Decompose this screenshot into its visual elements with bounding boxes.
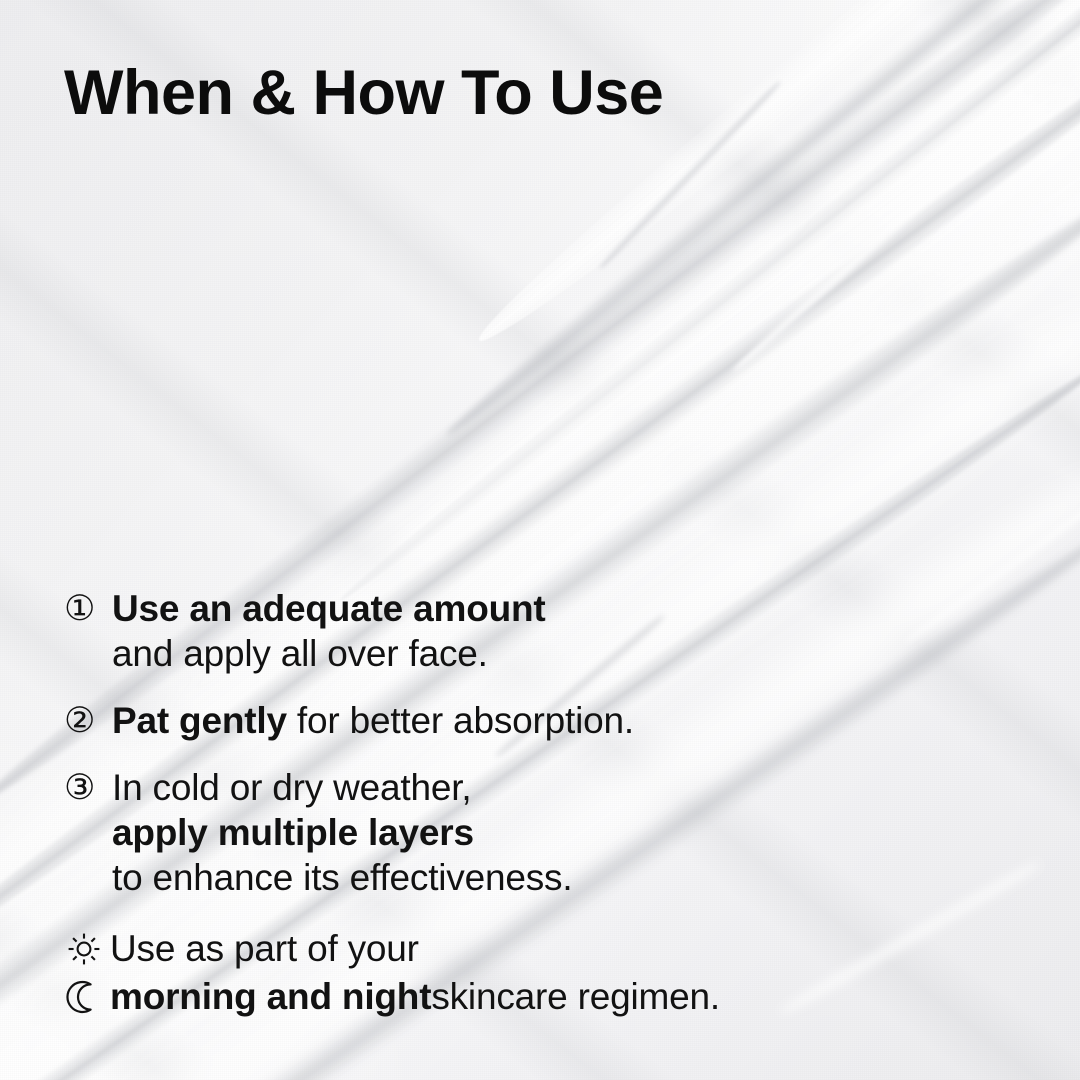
step-line: Pat gently for better absorption.	[112, 698, 1004, 743]
step-text-bold: Pat gently	[112, 700, 287, 741]
step-line: apply multiple layers	[112, 810, 1004, 855]
daynight-text-regular: skincare regimen.	[431, 973, 720, 1021]
step-line: Use an adequate amount	[112, 586, 1004, 631]
step-line: In cold or dry weather,	[112, 765, 1004, 810]
circled-two-icon: ②	[64, 698, 104, 743]
daynight-row-morning: Use as part of your	[64, 925, 1024, 973]
moon-icon	[64, 975, 108, 1019]
step-text-regular: to enhance its effectiveness.	[112, 857, 572, 898]
step-text-regular: In cold or dry weather,	[112, 767, 471, 808]
step-line: and apply all over face.	[112, 631, 1004, 676]
step-text-bold: Use an adequate amount	[112, 588, 546, 629]
daynight-note: Use as part of your morning and night sk…	[64, 925, 1024, 1021]
steps-list: ① Use an adequate amount and apply all o…	[64, 586, 1004, 900]
sun-icon	[64, 927, 108, 971]
step-text-bold: apply multiple layers	[112, 812, 474, 853]
step-text-regular: for better absorption.	[287, 700, 634, 741]
list-item: ③ In cold or dry weather, apply multiple…	[64, 765, 1004, 900]
daynight-text-bold: morning and night	[110, 973, 431, 1021]
daynight-row-night: morning and night skincare regimen.	[64, 973, 1024, 1021]
circled-three-icon: ③	[64, 765, 104, 810]
step-text-regular: and apply all over face.	[112, 633, 488, 674]
list-item: ② Pat gently for better absorption.	[64, 698, 1004, 743]
list-item: ① Use an adequate amount and apply all o…	[64, 586, 1004, 676]
step-line: to enhance its effectiveness.	[112, 855, 1004, 900]
daynight-text-regular: Use as part of your	[110, 925, 419, 973]
circled-one-icon: ①	[64, 586, 104, 631]
instruction-card: When & How To Use ① Use an adequate amou…	[0, 0, 1080, 1080]
page-title: When & How To Use	[64, 62, 663, 125]
card-content: When & How To Use ① Use an adequate amou…	[0, 0, 1080, 1080]
